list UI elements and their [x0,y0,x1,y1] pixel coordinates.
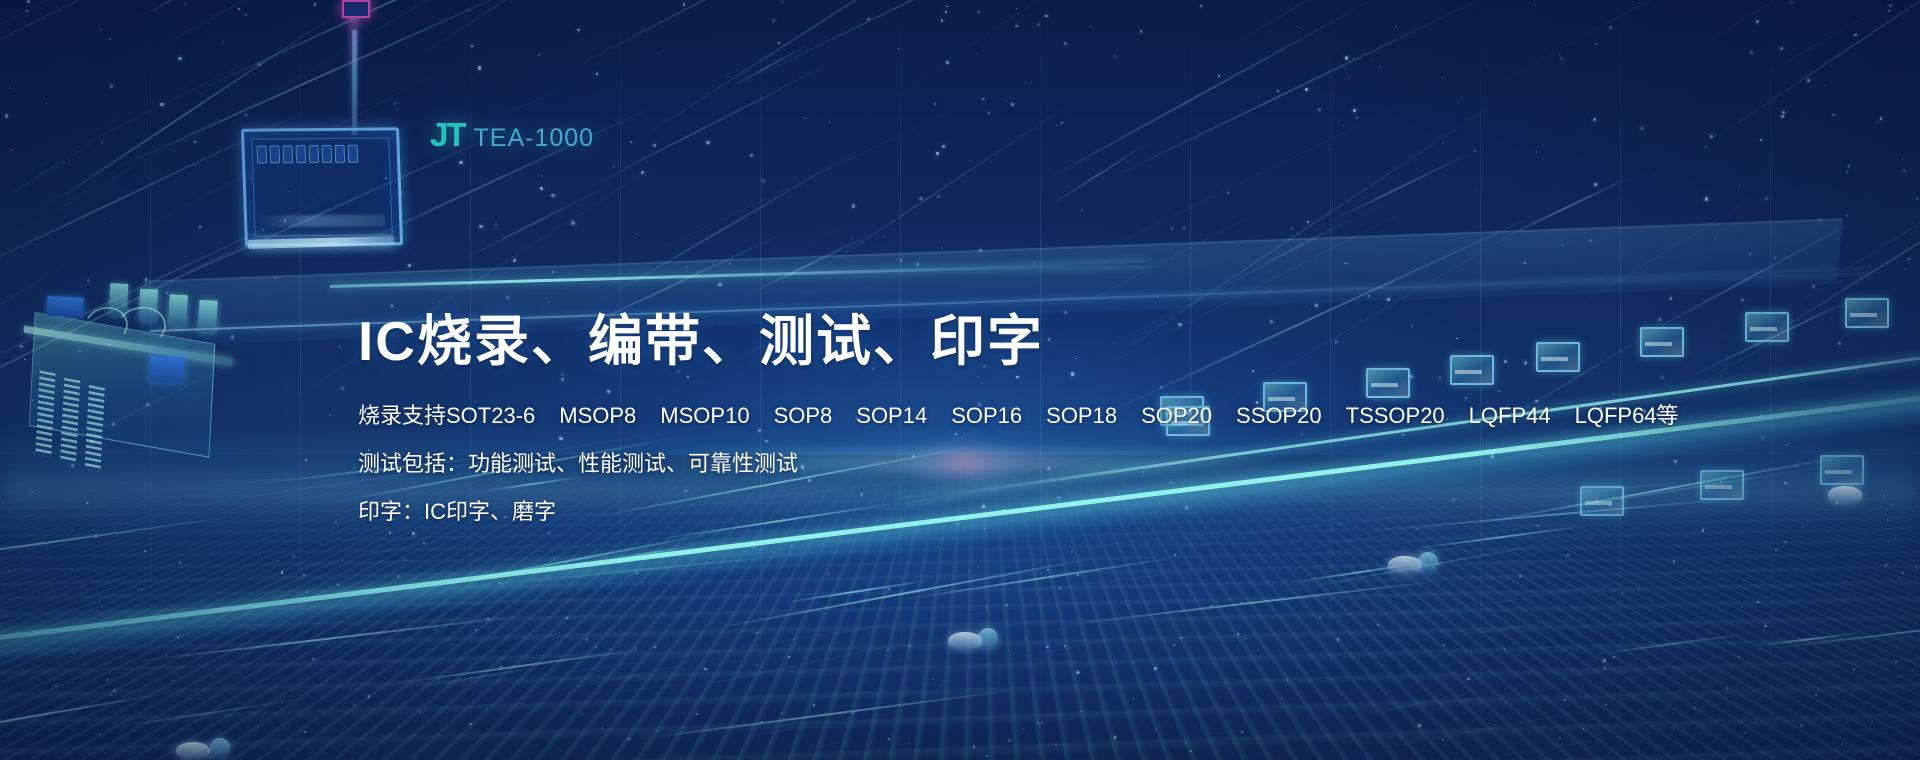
package-name: MSOP8 [559,405,636,427]
package-name: SOP16 [951,405,1022,427]
hero-banner: JT TEA-1000 IC烧录、编带、测试、印字 烧录支持SOT23-6 MS… [0,0,1920,760]
burn-support-lead: 烧录支持SOT23-6 [358,405,535,427]
package-name: SOP14 [856,405,927,427]
package-name: SOP18 [1046,405,1117,427]
marking-scope-line: 印字：IC印字、磨字 [358,501,1658,523]
page-title: IC烧录、编带、测试、印字 [358,312,1658,371]
package-name: LQFP44 [1469,405,1551,427]
hero-copy: IC烧录、编带、测试、印字 烧录支持SOT23-6 MSOP8MSOP10SOP… [358,312,1658,523]
feature-list: 烧录支持SOT23-6 MSOP8MSOP10SOP8SOP14SOP16SOP… [358,405,1658,523]
burn-support-line: 烧录支持SOT23-6 MSOP8MSOP10SOP8SOP14SOP16SOP… [358,405,1658,427]
test-scope-line: 测试包括：功能测试、性能测试、可靠性测试 [358,453,1658,475]
package-name: SSOP20 [1236,405,1322,427]
package-name: MSOP10 [660,405,749,427]
package-name: LQFP64等 [1575,405,1679,427]
package-name: SOP20 [1141,405,1212,427]
package-name: SOP8 [774,405,833,427]
package-name: TSSOP20 [1346,405,1445,427]
